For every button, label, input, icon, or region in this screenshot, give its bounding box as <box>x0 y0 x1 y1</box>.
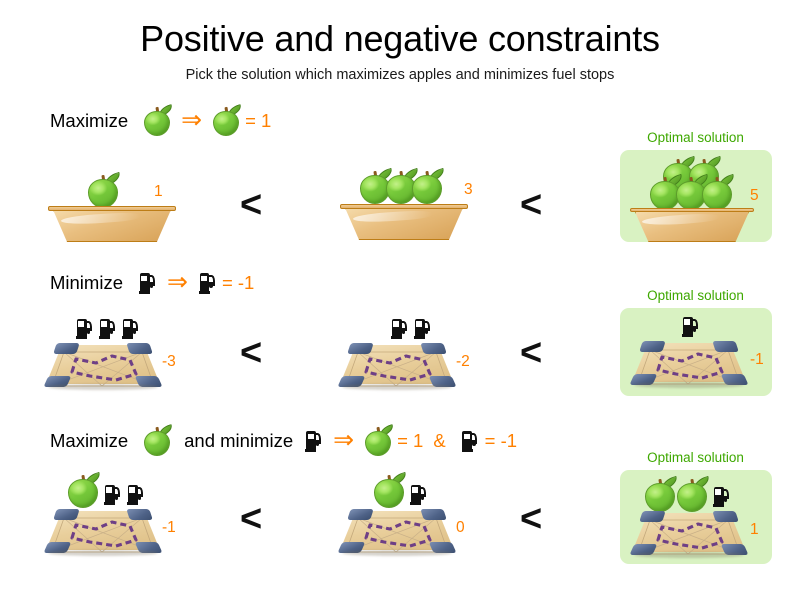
comparator-less-than: < <box>240 186 262 224</box>
comparator-less-than: < <box>240 334 262 372</box>
route-map-icon <box>340 508 454 556</box>
objective-value-2: = -1 <box>485 430 517 452</box>
objective-conjunction: and minimize <box>184 430 293 452</box>
item-value: -1 <box>750 352 764 368</box>
item-value: 1 <box>750 522 759 538</box>
apple-icon <box>677 478 707 512</box>
objective-line: Maximize and minimize ⇒ = 1 & = -1 <box>50 424 517 458</box>
fuel-pump-icon <box>76 318 93 339</box>
comparator-less-than: < <box>240 500 262 538</box>
apple-icon <box>374 474 404 508</box>
fuel-pump-icon <box>713 486 730 507</box>
optimal-solution-panel[interactable]: 5 <box>620 150 772 242</box>
optimal-solution-label: Optimal solution <box>608 450 783 465</box>
solution-item[interactable]: 3 <box>340 160 530 246</box>
page-subtitle: Pick the solution which maximizes apples… <box>0 67 800 83</box>
item-value: 0 <box>456 520 465 536</box>
fuel-pump-icon <box>305 431 322 452</box>
optimal-solution-label: Optimal solution <box>608 288 783 303</box>
apple-icon <box>68 474 98 508</box>
apple-icon <box>213 106 239 136</box>
route-map-icon <box>46 508 160 556</box>
objective-verb: Maximize <box>50 110 128 132</box>
apple-icon <box>702 176 732 210</box>
item-value: 5 <box>750 188 759 204</box>
solution-item[interactable]: -1 <box>46 476 236 571</box>
comparator-less-than: < <box>520 334 542 372</box>
bowl-icon <box>48 206 176 242</box>
fuel-pump-icon <box>104 484 121 505</box>
optimal-solution-panel[interactable]: 1 <box>620 470 772 564</box>
solution-item[interactable]: 1 <box>46 164 226 244</box>
objective-verb: Maximize <box>50 430 128 452</box>
objective-ampersand: & <box>433 430 445 452</box>
apple-icon <box>88 174 118 208</box>
fuel-pump-icon <box>391 318 408 339</box>
optimal-solution-panel[interactable]: -1 <box>620 308 772 396</box>
objective-line: Maximize ⇒ = 1 <box>50 104 271 138</box>
route-map-icon <box>632 340 746 388</box>
fuel-pump-icon <box>99 318 116 339</box>
apple-icon <box>412 170 442 204</box>
fuel-pump-icon <box>122 318 139 339</box>
route-map-icon <box>632 510 746 558</box>
objective-value: = 1 <box>245 110 271 132</box>
objective-line: Minimize ⇒ = -1 <box>50 266 254 300</box>
implies-arrow-icon: ⇒ <box>181 108 202 133</box>
solution-item[interactable]: -3 <box>46 318 236 408</box>
apple-icon <box>144 106 170 136</box>
objective-verb: Minimize <box>50 272 123 294</box>
item-value: -1 <box>162 520 176 536</box>
route-map-icon <box>340 342 454 390</box>
objective-value: = 1 <box>397 430 423 452</box>
fuel-pump-icon <box>199 273 216 294</box>
comparator-less-than: < <box>520 500 542 538</box>
apple-icon <box>645 478 675 512</box>
solution-item[interactable]: -2 <box>338 318 528 408</box>
bowl-icon <box>340 204 468 240</box>
objective-value: = -1 <box>222 272 254 294</box>
fuel-pump-icon <box>410 484 427 505</box>
fuel-pump-icon <box>682 316 699 337</box>
solution-item[interactable]: 0 <box>338 476 528 571</box>
apple-icon <box>144 426 170 456</box>
fuel-pump-icon <box>414 318 431 339</box>
item-value: -3 <box>162 354 176 370</box>
route-map-icon <box>46 342 160 390</box>
implies-arrow-icon: ⇒ <box>167 270 188 295</box>
item-value: 3 <box>464 182 473 198</box>
fuel-pump-icon <box>462 431 479 452</box>
fuel-pump-icon <box>127 484 144 505</box>
fuel-pump-icon <box>139 273 156 294</box>
page-title: Positive and negative constraints <box>0 0 800 60</box>
apple-icon <box>365 426 391 456</box>
optimal-solution-label: Optimal solution <box>608 130 783 145</box>
item-value: 1 <box>154 184 163 200</box>
comparator-less-than: < <box>520 186 542 224</box>
item-value: -2 <box>456 354 470 370</box>
bowl-icon <box>630 208 754 242</box>
implies-arrow-icon: ⇒ <box>333 428 354 453</box>
